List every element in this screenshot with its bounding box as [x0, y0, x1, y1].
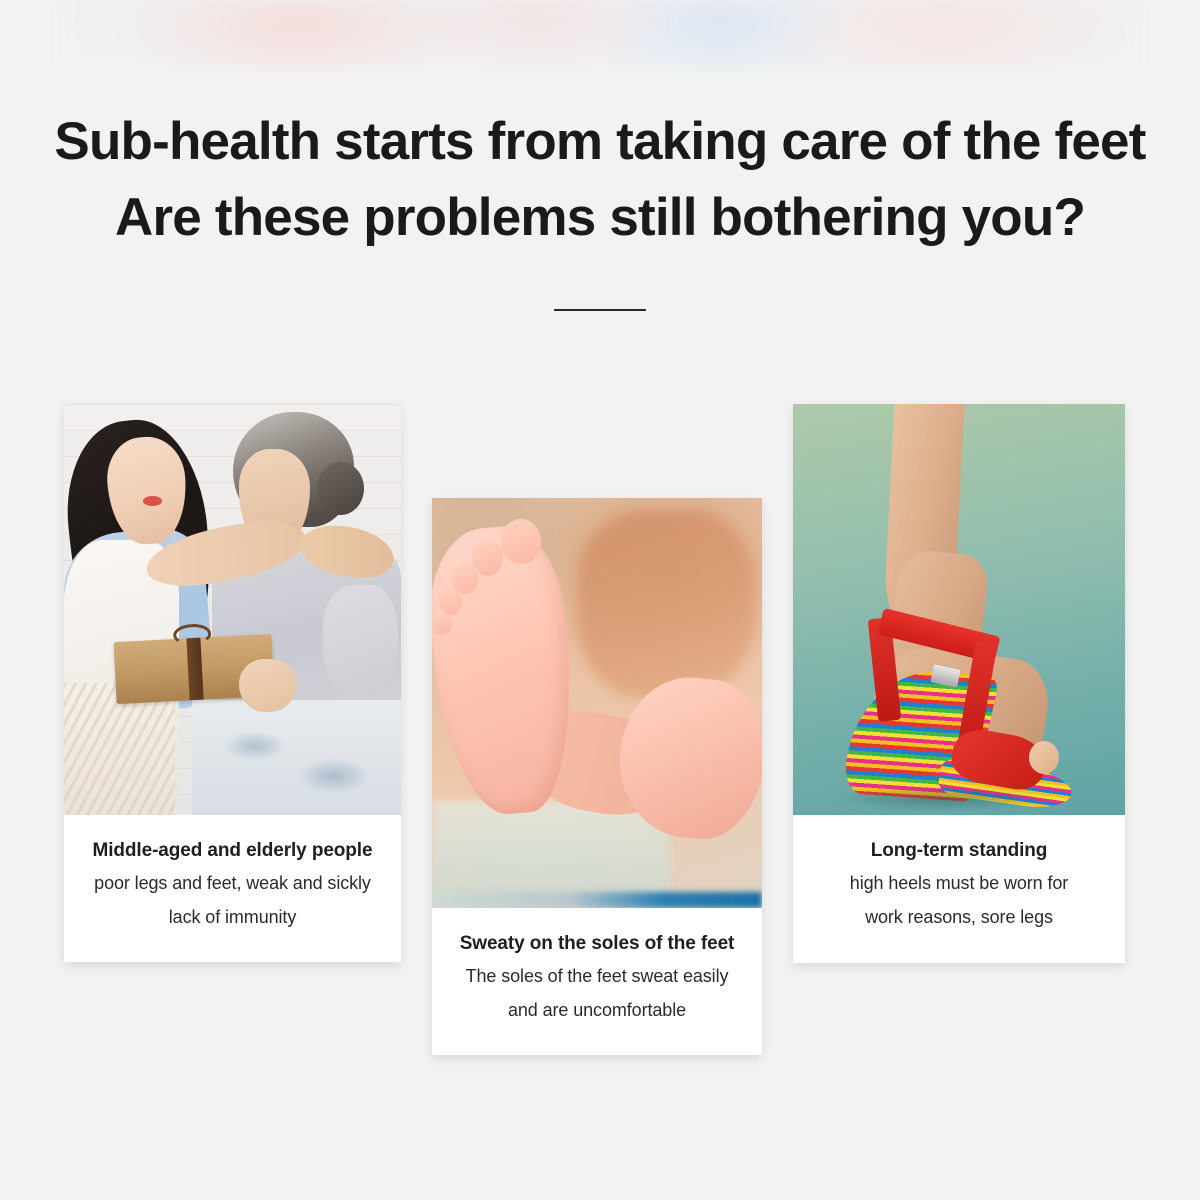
card-caption-sweaty-soles: Sweaty on the soles of the feet The sole… — [432, 908, 762, 1026]
card-description-line-1: The soles of the feet sweat easily — [448, 960, 746, 992]
baby-toe-5 — [432, 613, 452, 636]
baby-toe-4 — [439, 588, 462, 615]
card-photo-sweaty-soles — [432, 498, 762, 908]
card-title: Middle-aged and elderly people — [80, 837, 385, 865]
top-gradient-band — [62, 0, 1138, 72]
card-photo-middle-aged-elderly — [64, 404, 401, 815]
problem-card-long-term-standing[interactable]: Long-term standing high heels must be wo… — [793, 404, 1125, 963]
gift-ribbon — [186, 638, 203, 700]
card-description-line-2: and are uncomfortable — [448, 994, 746, 1026]
card-caption-long-term-standing: Long-term standing high heels must be wo… — [793, 815, 1125, 933]
photo-two-women-with-gift-image — [64, 404, 401, 815]
card-title: Sweaty on the soles of the feet — [448, 930, 746, 958]
card-caption-middle-aged-elderly: Middle-aged and elderly people poor legs… — [64, 815, 401, 933]
card-photo-long-term-standing — [793, 404, 1125, 815]
card-description-line-1: high heels must be worn for — [809, 867, 1109, 899]
card-description-line-2: work reasons, sore legs — [809, 901, 1109, 933]
model-toes — [1029, 741, 1059, 774]
photo-high-heel-leg-image — [793, 404, 1125, 815]
card-title: Long-term standing — [809, 837, 1109, 865]
page-title: Sub-health starts from taking care of th… — [0, 104, 1200, 256]
elderly-woman-hair-bun — [317, 462, 364, 515]
baby-body-blur — [577, 510, 755, 699]
elderly-woman-skirt — [192, 700, 401, 815]
page-title-line-1: Sub-health starts from taking care of th… — [54, 112, 1145, 171]
page-title-line-2: Are these problems still bothering you? — [0, 180, 1200, 256]
card-description-line-1: poor legs and feet, weak and sickly — [80, 867, 385, 899]
card-description-line-2: lack of immunity — [80, 901, 385, 933]
elderly-woman-sleeve — [323, 585, 397, 696]
photo-baby-feet-image — [432, 498, 762, 908]
elderly-woman-hand — [239, 659, 296, 712]
gift-bow — [172, 624, 211, 647]
baby-toe-big — [501, 519, 541, 564]
baby-background-strip — [432, 892, 762, 908]
title-divider — [554, 309, 646, 311]
baby-toe-2 — [472, 539, 503, 576]
floor-shadow — [839, 786, 1045, 811]
problem-card-sweaty-soles[interactable]: Sweaty on the soles of the feet The sole… — [432, 498, 762, 1055]
problem-card-middle-aged-elderly[interactable]: Middle-aged and elderly people poor legs… — [64, 404, 401, 962]
title-divider-wrap — [0, 300, 1200, 320]
